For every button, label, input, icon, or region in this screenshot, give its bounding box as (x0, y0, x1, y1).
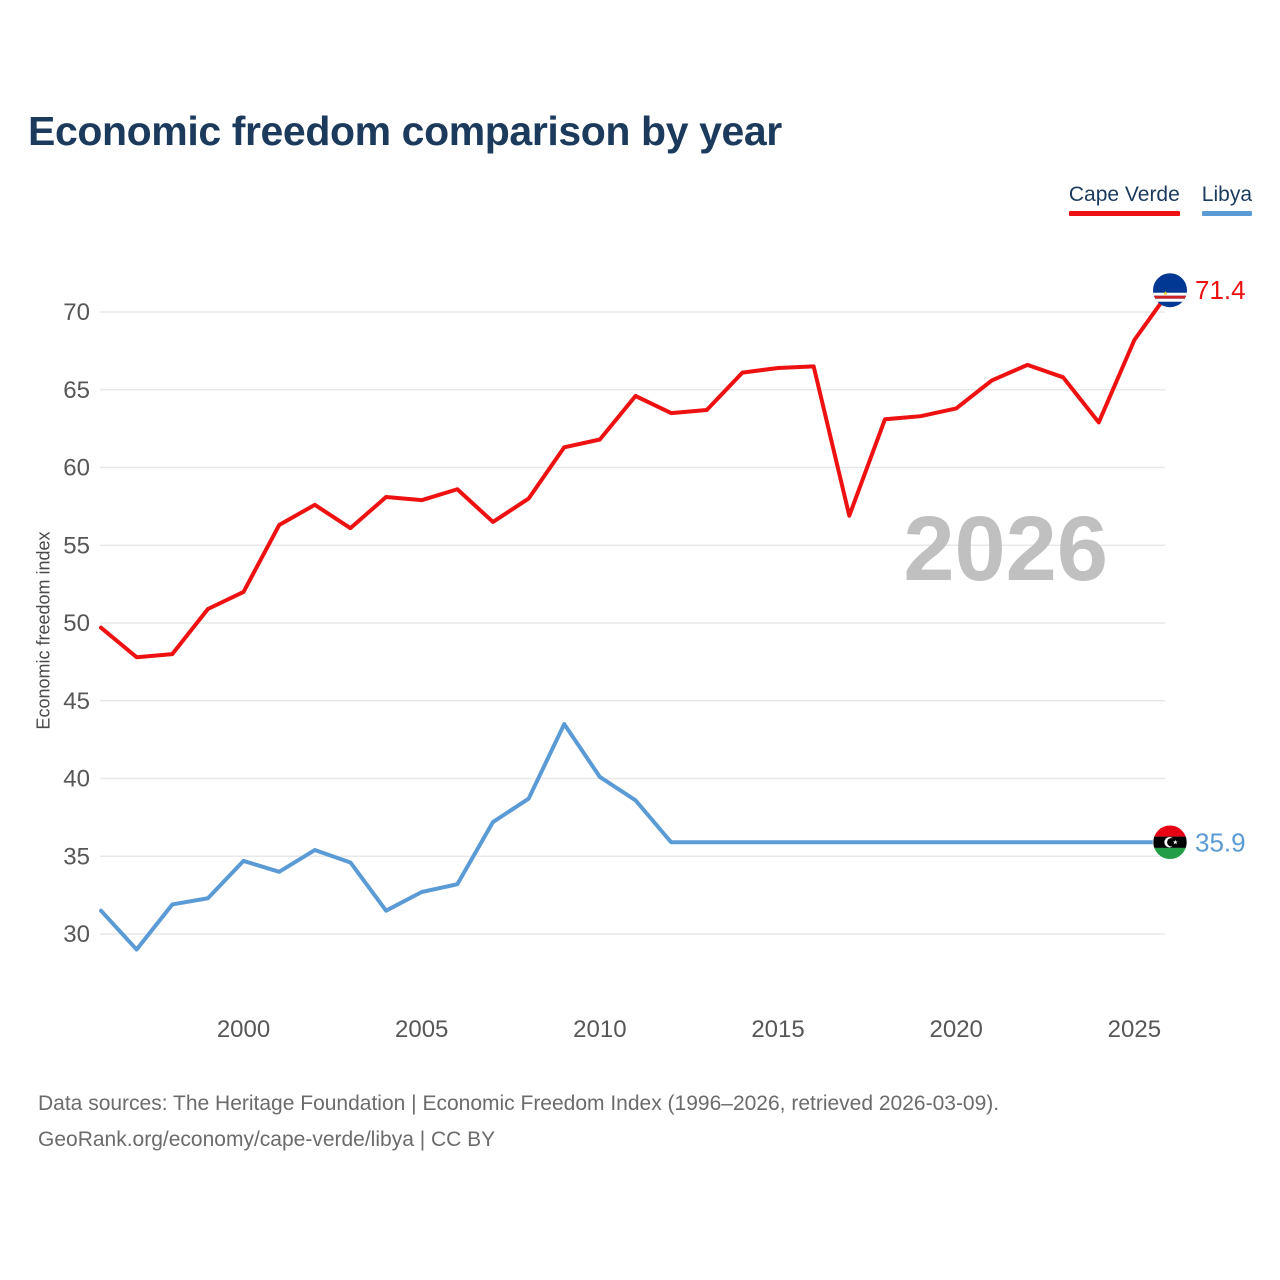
legend-label-libya: Libya (1202, 182, 1252, 208)
footer-line-license: GeoRank.org/economy/cape-verde/libya | C… (38, 1122, 999, 1158)
y-tick-label: 70 (63, 299, 90, 326)
y-tick-label: 45 (63, 688, 90, 715)
series-line-cape-verde (101, 290, 1170, 657)
footer-line-sources: Data sources: The Heritage Foundation | … (38, 1086, 999, 1122)
year-watermark: 2026 (903, 498, 1108, 600)
end-value-libya: 35.9 (1195, 827, 1246, 857)
x-tick-label: 2005 (395, 1016, 448, 1043)
legend-color-swatch-cape-verde (1069, 211, 1180, 216)
line-chart: 303540455055606570 200020052010201520202… (0, 250, 1280, 1050)
y-tick-label: 30 (63, 921, 90, 948)
y-tick-label: 35 (63, 843, 90, 870)
x-tick-label: 2025 (1108, 1016, 1161, 1043)
y-axis-tick-labels: 303540455055606570 (63, 299, 90, 948)
legend-item-libya[interactable]: Libya (1202, 182, 1252, 216)
x-tick-label: 2020 (930, 1016, 983, 1043)
x-tick-label: 2000 (217, 1016, 270, 1043)
x-axis-tick-labels: 200020052010201520202025 (217, 1016, 1161, 1043)
series-line-libya (101, 724, 1170, 949)
end-value-cape-verde: 71.4 (1195, 275, 1246, 305)
y-tick-label: 65 (63, 377, 90, 404)
y-tick-label: 40 (63, 766, 90, 793)
legend-item-cape-verde[interactable]: Cape Verde (1069, 182, 1180, 216)
footer: Data sources: The Heritage Foundation | … (38, 1086, 999, 1158)
page-title: Economic freedom comparison by year (28, 108, 782, 155)
cape-verde-flag-icon (1153, 273, 1187, 307)
legend: Cape Verde Libya (1069, 182, 1252, 216)
plot-area: Economic freedom index 30354045505560657… (0, 250, 1280, 1050)
legend-color-swatch-libya (1202, 211, 1252, 216)
x-tick-label: 2010 (573, 1016, 626, 1043)
x-tick-label: 2015 (751, 1016, 804, 1043)
libya-flag-icon (1153, 825, 1187, 859)
chart-page: Economic freedom comparison by year Cape… (0, 0, 1280, 1280)
end-marker-cape-verde[interactable]: 71.4 (1153, 273, 1246, 307)
y-tick-label: 50 (63, 610, 90, 637)
end-marker-libya[interactable]: 35.9 (1153, 825, 1246, 859)
legend-label-cape-verde: Cape Verde (1069, 182, 1180, 208)
y-tick-label: 60 (63, 455, 90, 482)
y-tick-label: 55 (63, 532, 90, 559)
